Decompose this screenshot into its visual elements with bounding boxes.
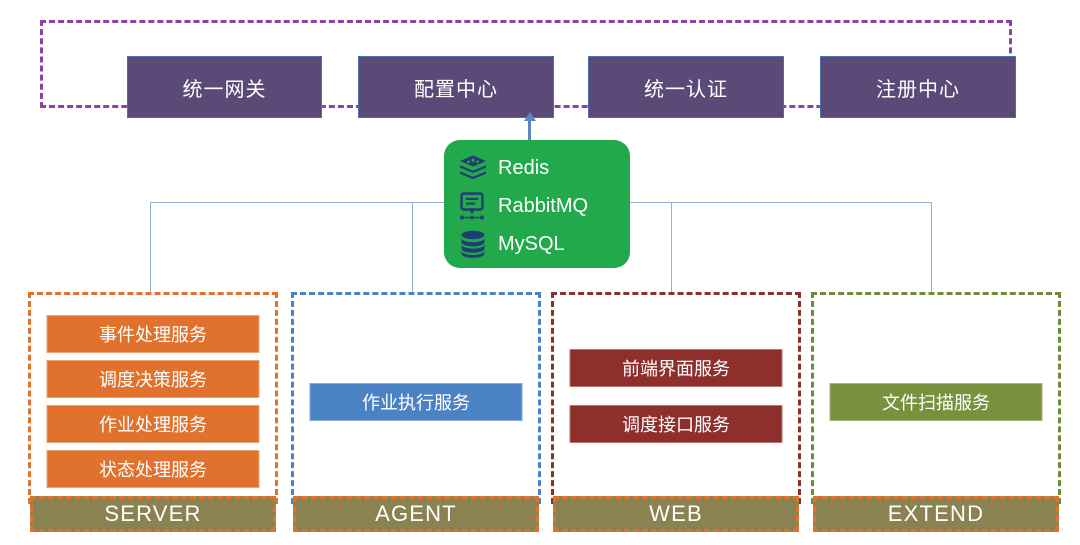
service-status-processing[interactable]: 状态处理服务 — [47, 450, 260, 488]
arrow-stem-to-infrastructure — [528, 120, 531, 142]
infra-box-unified-gateway[interactable]: 统一网关 — [127, 56, 322, 118]
connector-riser-server — [150, 202, 151, 294]
group-footer-web: WEB — [553, 496, 799, 532]
service-schedule-api[interactable]: 调度接口服务 — [570, 405, 783, 443]
middleware-label-mysql: MySQL — [498, 233, 565, 256]
message-queue-icon — [456, 190, 490, 222]
group-web: 前端界面服务 调度接口服务 — [551, 292, 801, 504]
infra-box-registry-center[interactable]: 注册中心 — [820, 56, 1016, 118]
middleware-label-rabbitmq: RabbitMQ — [498, 195, 588, 218]
connector-bus-right — [630, 202, 932, 203]
infra-box-unified-auth[interactable]: 统一认证 — [588, 56, 784, 118]
infrastructure-container: 统一网关 配置中心 统一认证 注册中心 — [40, 20, 1012, 108]
middleware-card[interactable]: Redis — [444, 140, 630, 268]
arrow-head-to-infrastructure — [524, 112, 536, 121]
service-file-scan[interactable]: 文件扫描服务 — [830, 383, 1043, 421]
connector-riser-extend — [931, 202, 932, 294]
service-job-execution[interactable]: 作业执行服务 — [310, 383, 523, 421]
middleware-item-rabbitmq: RabbitMQ — [456, 188, 630, 224]
middleware-item-mysql: MySQL — [456, 226, 630, 262]
service-job-processing[interactable]: 作业处理服务 — [47, 405, 260, 443]
middleware-label-redis: Redis — [498, 157, 549, 180]
database-icon — [456, 228, 490, 260]
service-schedule-decision[interactable]: 调度决策服务 — [47, 360, 260, 398]
group-agent: 作业执行服务 — [291, 292, 541, 504]
architecture-diagram: 统一网关 配置中心 统一认证 注册中心 — [0, 0, 1080, 545]
middleware-item-redis: Redis — [456, 150, 630, 186]
group-server: 事件处理服务 调度决策服务 作业处理服务 状态处理服务 — [28, 292, 278, 504]
connector-bus-left — [150, 202, 444, 203]
infra-box-config-center[interactable]: 配置中心 — [358, 56, 554, 118]
group-extend: 文件扫描服务 — [811, 292, 1061, 504]
stacked-layers-icon — [456, 152, 490, 184]
group-footer-server: SERVER — [30, 496, 276, 532]
group-footer-agent: AGENT — [293, 496, 539, 532]
service-frontend-ui[interactable]: 前端界面服务 — [570, 349, 783, 387]
connector-riser-web — [671, 202, 672, 294]
connector-riser-agent — [412, 202, 413, 294]
service-event-processing[interactable]: 事件处理服务 — [47, 315, 260, 353]
group-footer-extend: EXTEND — [813, 496, 1059, 532]
